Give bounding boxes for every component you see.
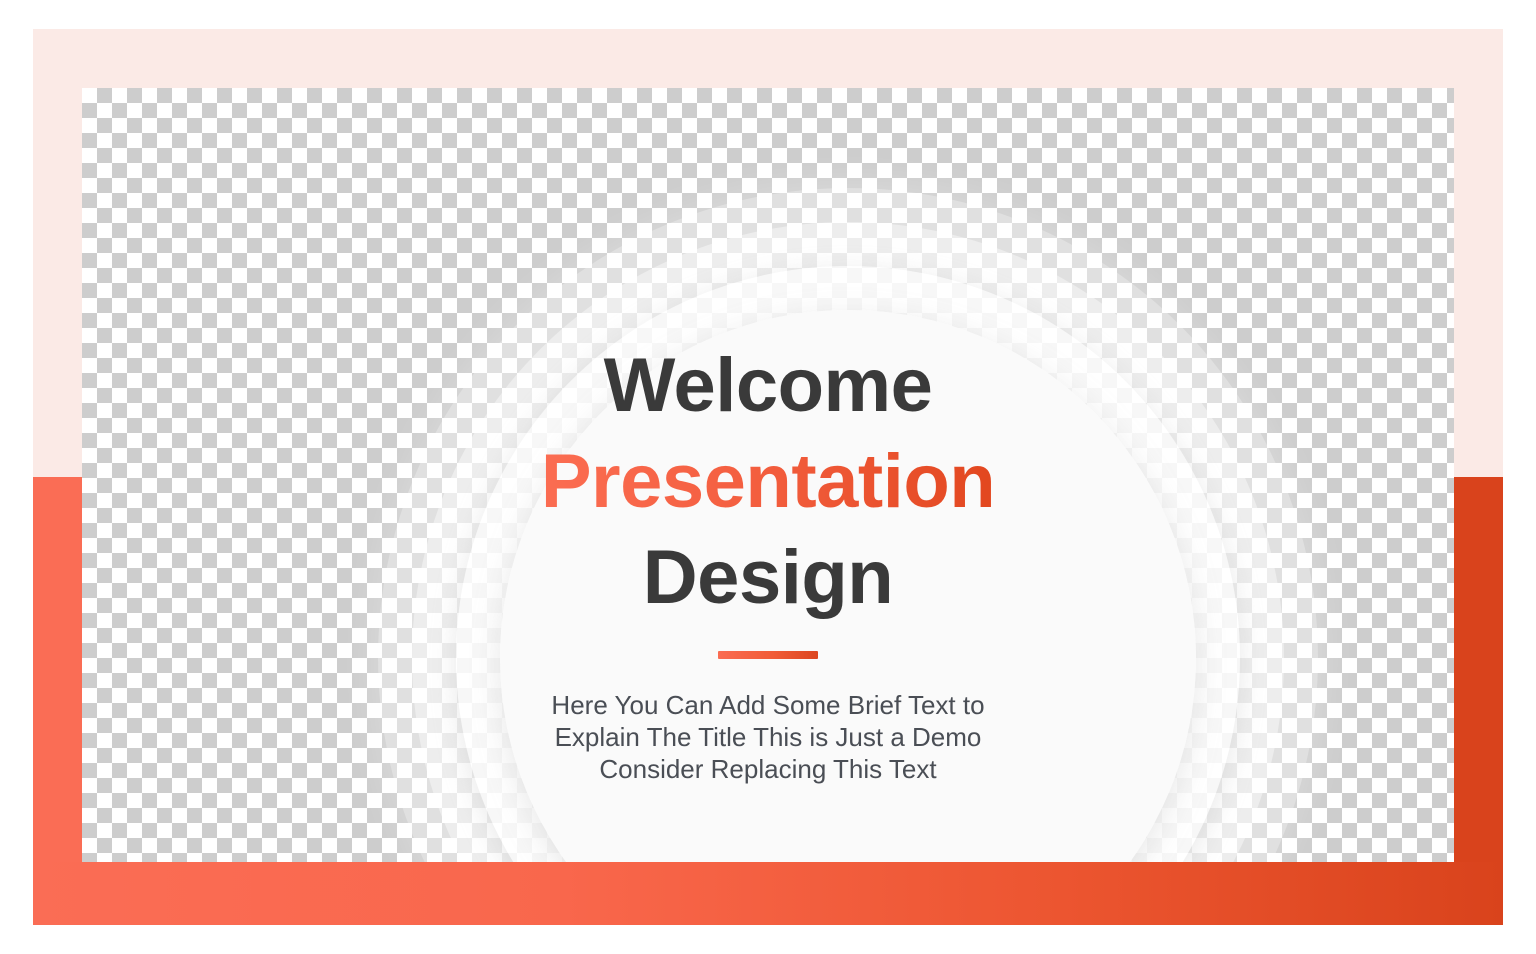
slide-subtitle: Here You Can Add Some Brief Text to Expl… (551, 689, 984, 785)
accent-divider-bar (718, 651, 818, 659)
title-line-presentation: Presentation (541, 434, 995, 530)
subtitle-line-2: Explain The Title This is Just a Demo (551, 721, 984, 753)
frame-pink-right-band (1454, 29, 1503, 477)
frame-orange-bottom-band (33, 862, 1503, 925)
title-line-design: Design (541, 530, 995, 626)
frame-orange-right-band (1454, 477, 1503, 925)
subtitle-line-3: Consider Replacing This Text (551, 753, 984, 785)
title-line-welcome: Welcome (541, 338, 995, 434)
frame-orange-left-band (33, 477, 82, 925)
subtitle-line-1: Here You Can Add Some Brief Text to (551, 689, 984, 721)
slide-canvas: Welcome Presentation Design Here You Can… (0, 0, 1536, 954)
frame-pink-left-band (33, 29, 82, 477)
slide-title-block: Welcome Presentation Design (541, 338, 995, 626)
frame-pink-top-band (33, 29, 1503, 88)
